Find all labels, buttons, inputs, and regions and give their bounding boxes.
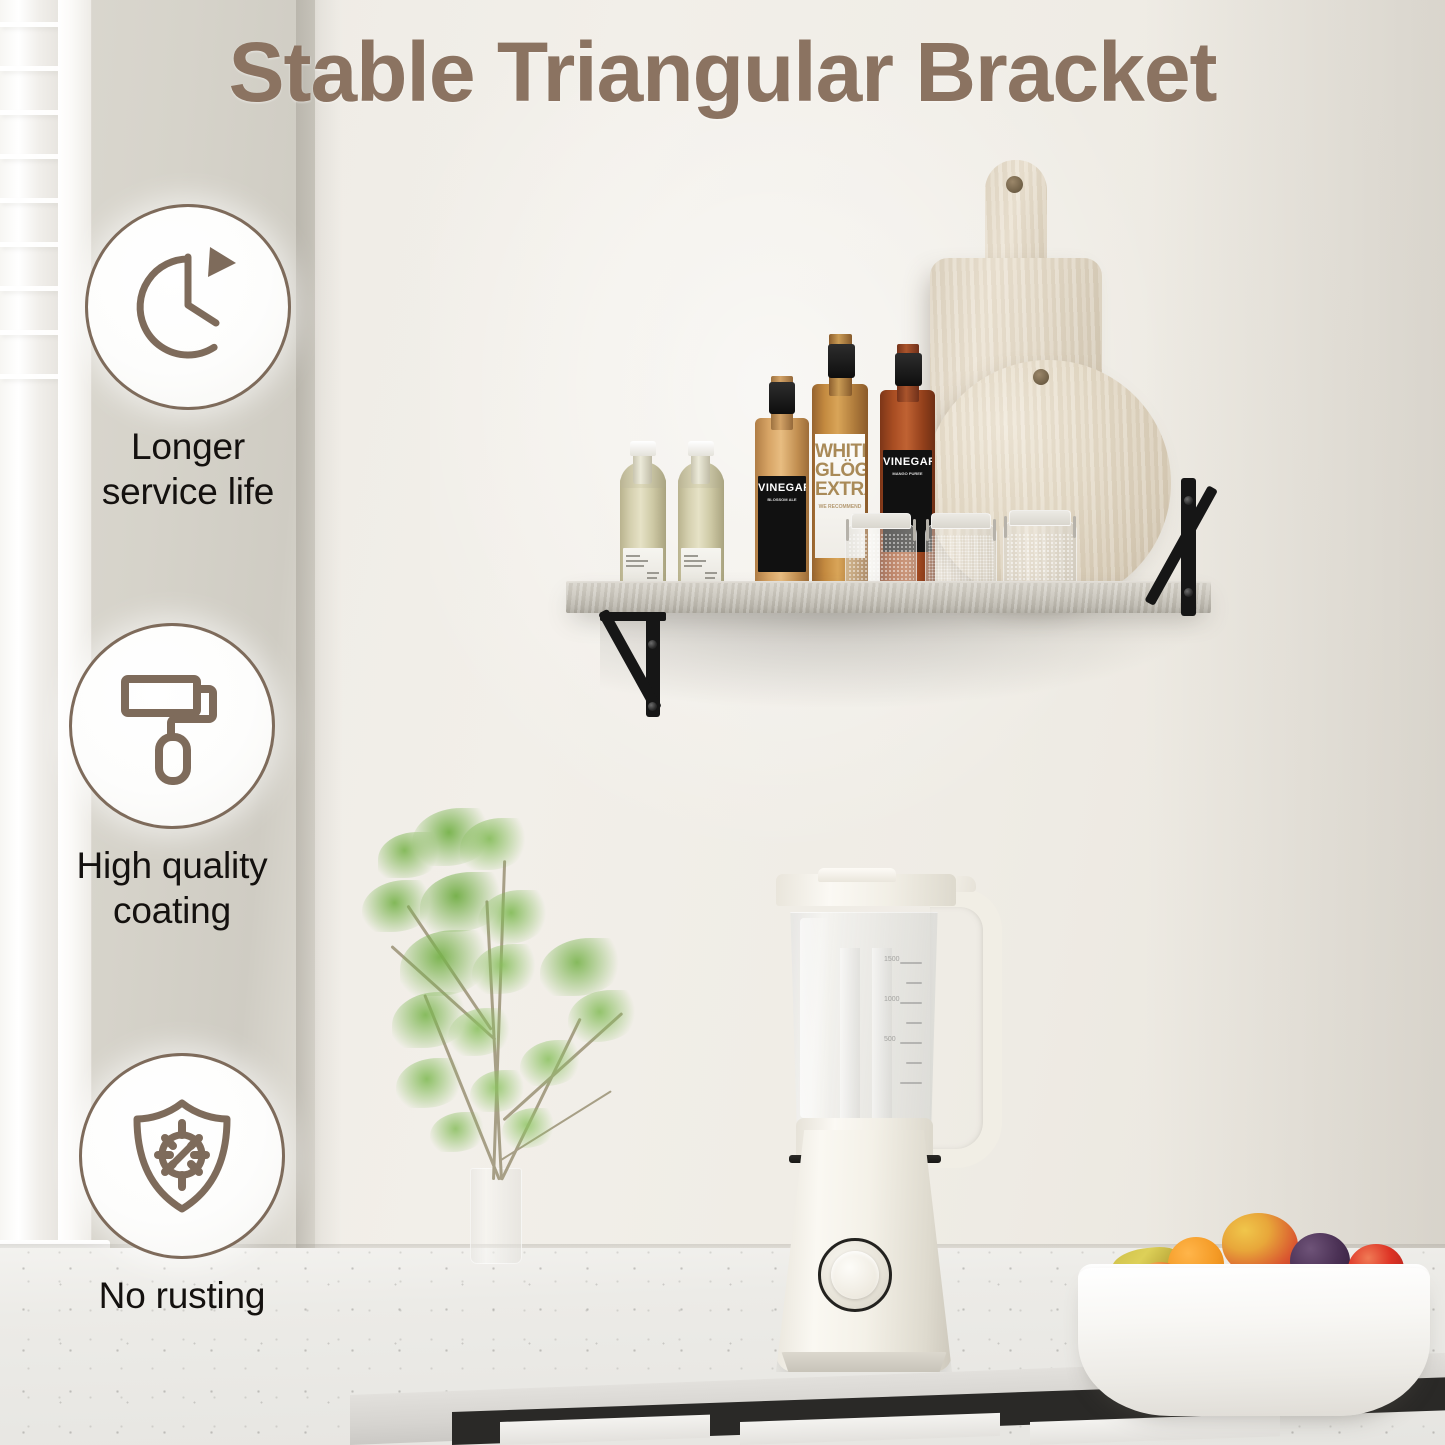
feature-badge-circle [85,204,291,410]
green-juice-bottle [678,440,724,596]
blender-jar-highlight [800,918,830,1118]
blender-foot [778,1352,950,1372]
green-juice-bottle [620,440,666,596]
feature-label-line1: No rusting [22,1273,342,1318]
paddle-board-hanging-hole [1006,176,1023,193]
feature-label-line1: High quality [12,843,332,888]
blender-blade-column [872,948,892,1118]
feature-no-rusting: No rusting [22,1053,342,1318]
feature-label-line2: service life [28,469,348,514]
floating-shelf-board [566,583,1211,613]
glass-vase [470,1168,522,1264]
product-marketing-image: VINEGAR BLOSSOM ALE WHITE GLÖGG EXTRACT … [0,0,1445,1445]
page-title: Stable Triangular Bracket [0,24,1445,121]
round-board-hanging-hole [1033,369,1049,385]
blender-measure-label: 500 [884,1036,896,1043]
shield-no-rust-icon [119,1093,245,1219]
blender-lid-cap [818,868,896,882]
feature-label: Longer service life [28,424,348,514]
feature-badge-circle [79,1053,285,1259]
triangular-bracket-right [1155,478,1205,618]
feature-badge-circle [69,623,275,829]
feature-label-line1: Longer [28,424,348,469]
bottle-label: VINEGAR BLOSSOM ALE [758,476,806,572]
feature-label: No rusting [22,1273,342,1318]
blender-handle [930,888,1002,1168]
triangular-bracket-left [600,612,670,720]
shelf-cast-shadow [600,612,1200,707]
blender-blade-column [840,948,860,1118]
blender-measure-label: 1500 [884,956,900,963]
feature-label-line2: coating [12,888,332,933]
feature-longer-service-life: Longer service life [28,204,348,514]
vinegar-bottle-amber: VINEGAR BLOSSOM ALE [755,382,809,596]
blender-measure-label: 1000 [884,996,900,1003]
paint-roller-icon [111,665,233,787]
blender-control-knob-face[interactable] [831,1251,879,1299]
feature-label: High quality coating [12,843,332,933]
feature-high-quality-coating: High quality coating [12,623,332,933]
clock-arrow-icon [124,243,252,371]
fruit-bowl-body [1078,1268,1430,1416]
